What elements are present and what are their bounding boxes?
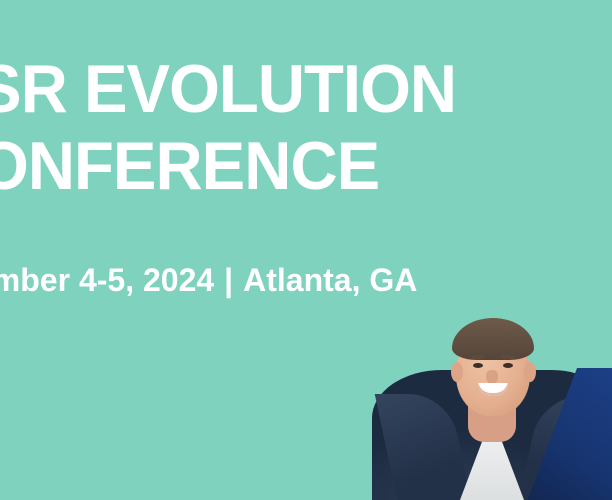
hair [452,318,534,360]
nose [486,370,498,384]
ear-left [451,362,463,382]
speaker-portrait [372,275,612,500]
eye-left [473,363,483,368]
headline-line-1: SR EVOLUTION [0,58,516,121]
ear-right [524,362,536,382]
banner-headline: SR EVOLUTION ONFERENCE [0,58,538,197]
eye-right [503,363,513,368]
conference-banner: SR EVOLUTION ONFERENCE ember 4-5, 2024|A… [0,0,612,500]
headline-line-2: ONFERENCE [0,135,516,198]
banner-details: ember 4-5, 2024|Atlanta, GA [0,262,417,299]
details-separator: | [214,262,243,299]
event-dates: ember 4-5, 2024 [0,262,214,298]
